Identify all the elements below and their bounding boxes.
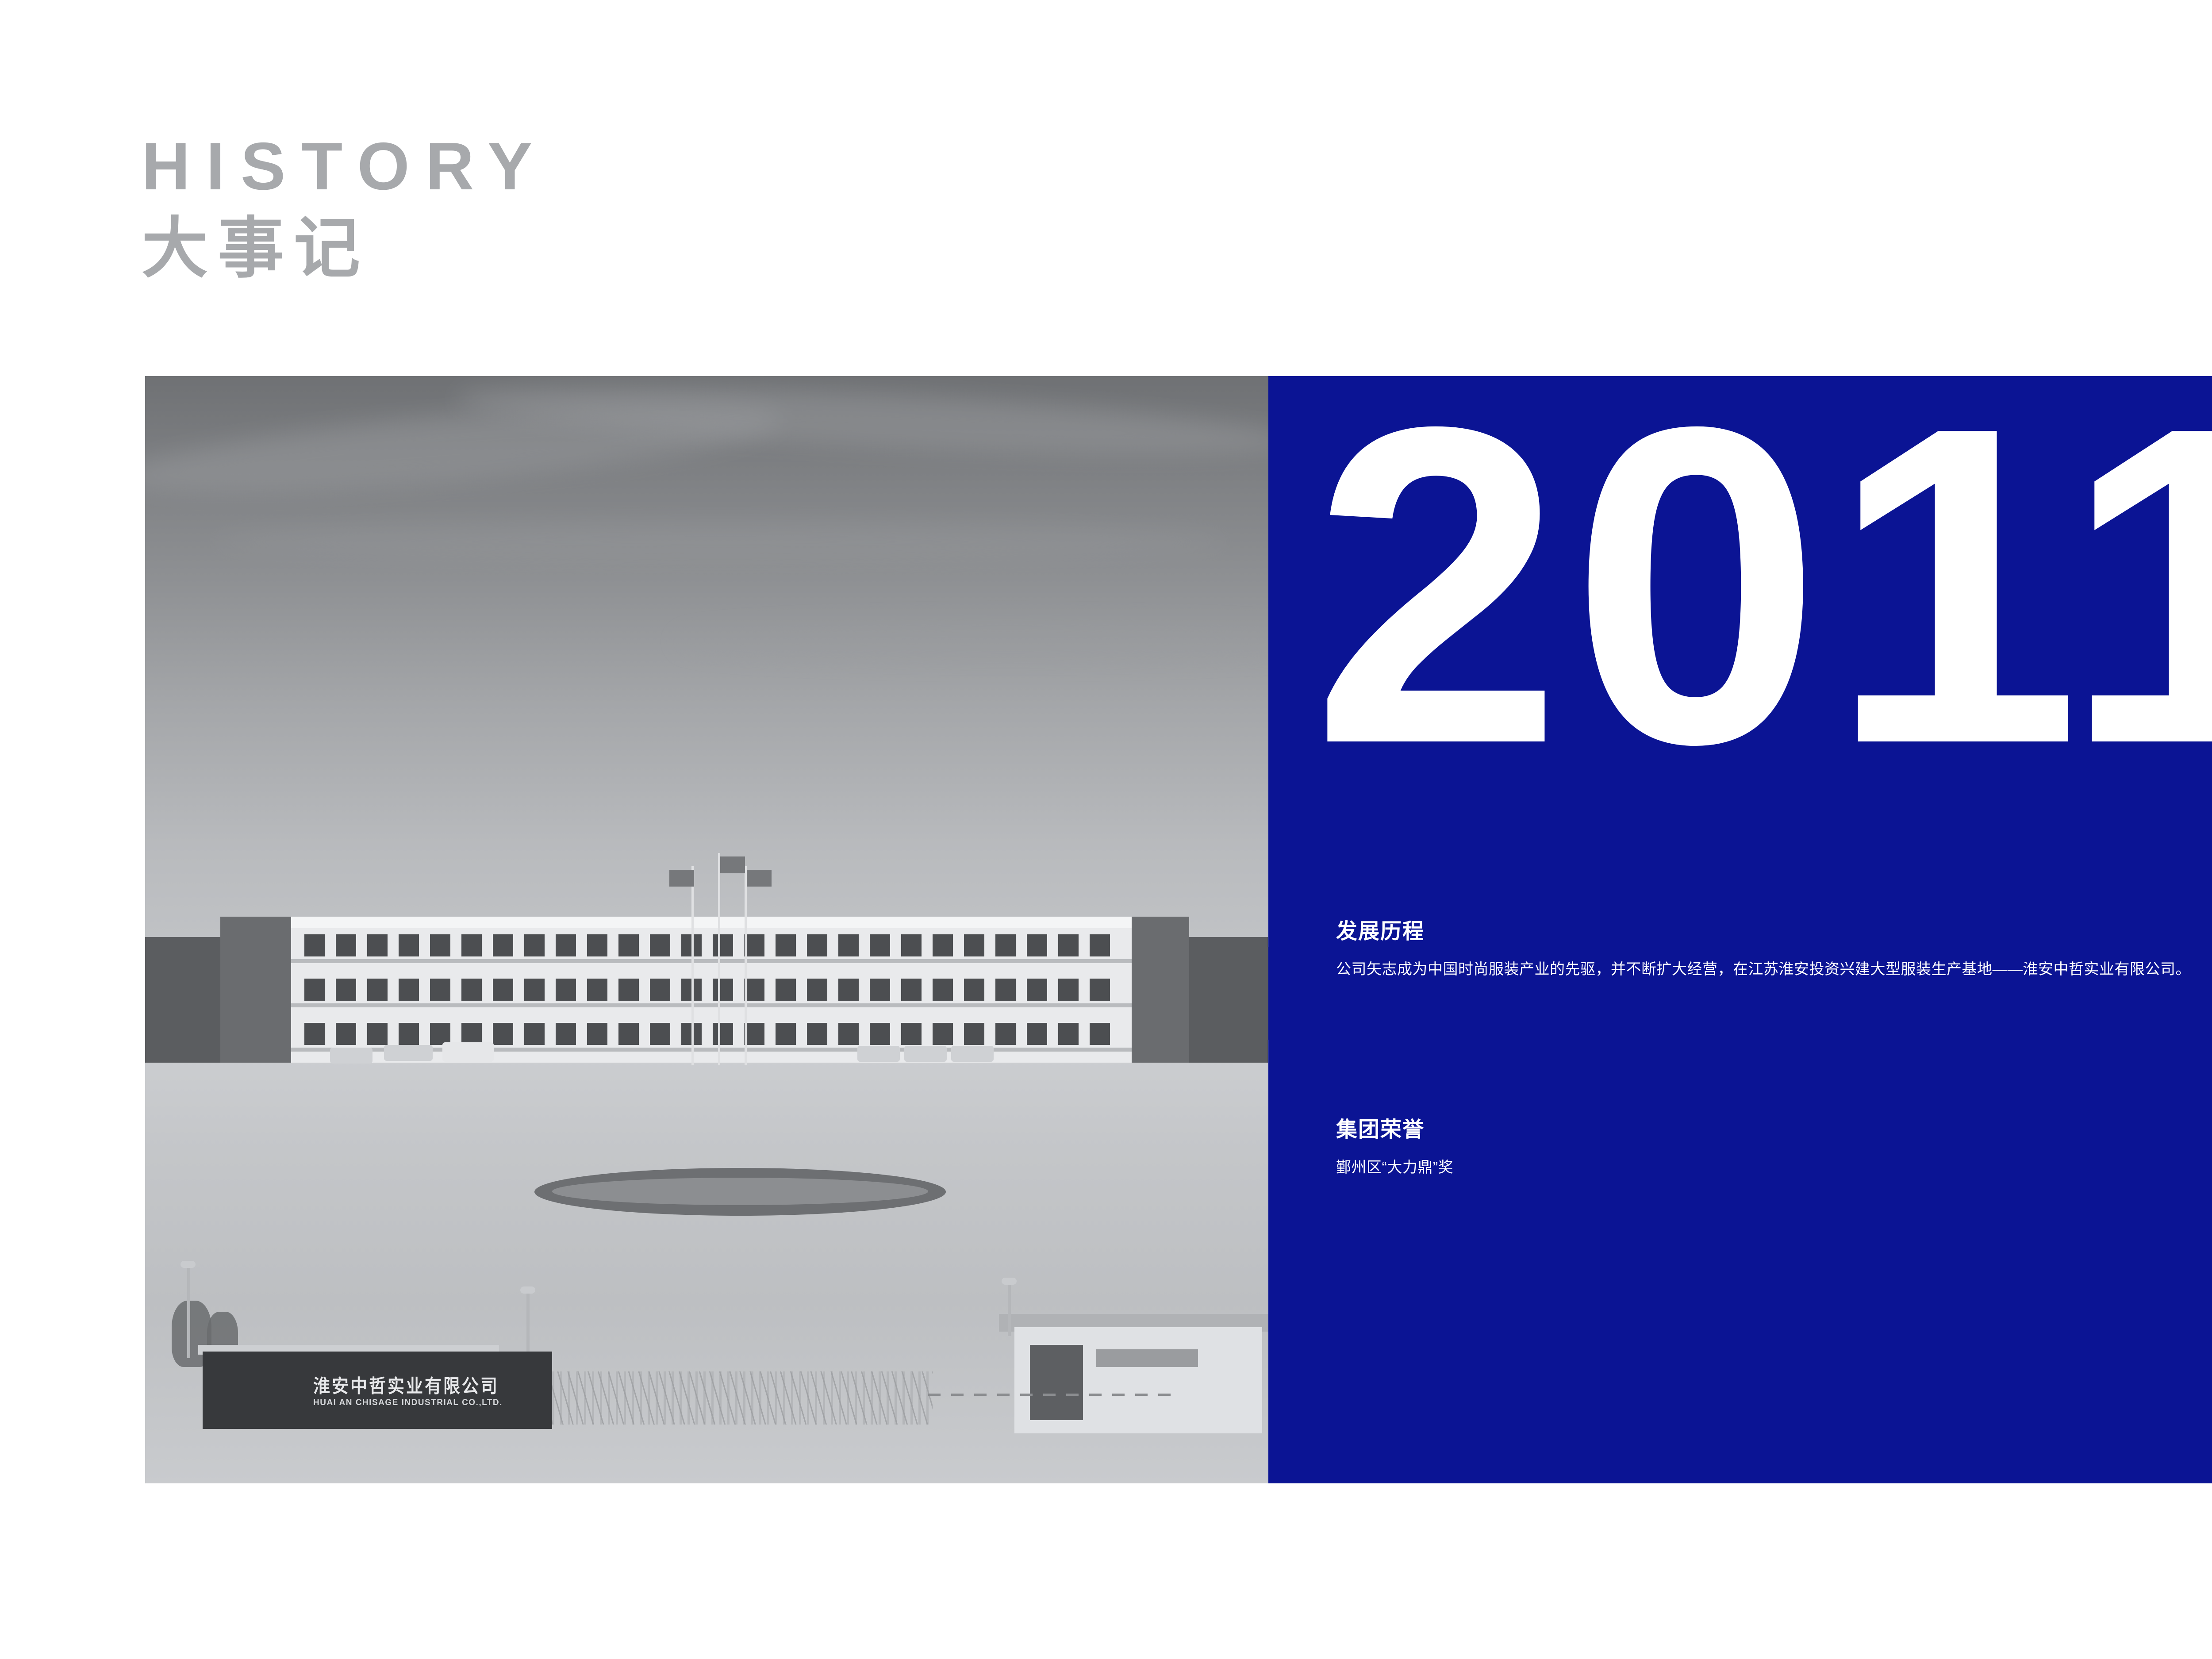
photo-sign-cn: 淮安中哲实业有限公司 (313, 1371, 534, 1398)
photo-flag (720, 856, 745, 873)
photo-main-building (291, 917, 1132, 1063)
page-title-en: HISTORY (142, 133, 548, 200)
photo-flag (669, 870, 694, 887)
photo-van (442, 1042, 494, 1062)
content-heading: 发展历程 (1336, 921, 2191, 942)
slide-canvas: HISTORY 大事记 (0, 0, 2212, 1659)
photo-floor-band (291, 1003, 1132, 1007)
photo-floor-band (291, 959, 1132, 963)
photo-flagpole (745, 866, 747, 1065)
photo-car (857, 1046, 900, 1062)
photo-lamp-post (187, 1265, 190, 1358)
photo-planter (534, 1168, 946, 1216)
photo-car (330, 1048, 373, 1064)
page-header: HISTORY 大事记 (142, 133, 548, 281)
photo-lamp-head (520, 1286, 535, 1294)
photo-flagpole (691, 866, 694, 1065)
content-paragraph: 公司矢志成为中国时尚服装产业的先驱，并不断扩大经营，在江苏淮安投资兴建大型服装生… (1336, 957, 2191, 982)
photo-lamp-head (1002, 1278, 1017, 1285)
photo-car (384, 1045, 433, 1061)
content-block-honor: 集团荣誉 鄞州区“大力鼎”奖 (1336, 1119, 1453, 1180)
photo-cloud (211, 522, 1229, 562)
photo-planter-inner (552, 1178, 928, 1205)
photo-car (904, 1046, 947, 1062)
photo-car (951, 1046, 994, 1062)
page-title-cn: 大事记 (142, 215, 548, 281)
photo-flagpole (718, 853, 720, 1065)
year-label: 2011 (1268, 360, 2212, 811)
photo-lamp-post (526, 1292, 530, 1358)
factory-photo: 淮安中哲实业有限公司 HUAI AN CHISAGE INDUSTRIAL CO… (145, 376, 1268, 1483)
photo-lamp-head (180, 1261, 196, 1268)
photo-lamp-post (1008, 1283, 1011, 1336)
photo-sign-en: HUAI AN CHISAGE INDUSTRIAL CO.,LTD. (313, 1398, 561, 1408)
photo-roof-line (291, 917, 1132, 928)
photo-drive-marking (928, 1394, 1176, 1396)
photo-fence-diagonal (552, 1371, 933, 1425)
photo-guard-banner (1096, 1349, 1198, 1367)
photo-side-wing (1179, 937, 1268, 1063)
content-paragraph: 鄞州区“大力鼎”奖 (1336, 1156, 1453, 1180)
photo-guard-window (1030, 1345, 1083, 1420)
content-block-history: 发展历程 公司矢志成为中国时尚服装产业的先驱，并不断扩大经营，在江苏淮安投资兴建… (1336, 921, 2191, 982)
photo-flag (747, 870, 772, 887)
content-heading: 集团荣誉 (1336, 1119, 1453, 1141)
